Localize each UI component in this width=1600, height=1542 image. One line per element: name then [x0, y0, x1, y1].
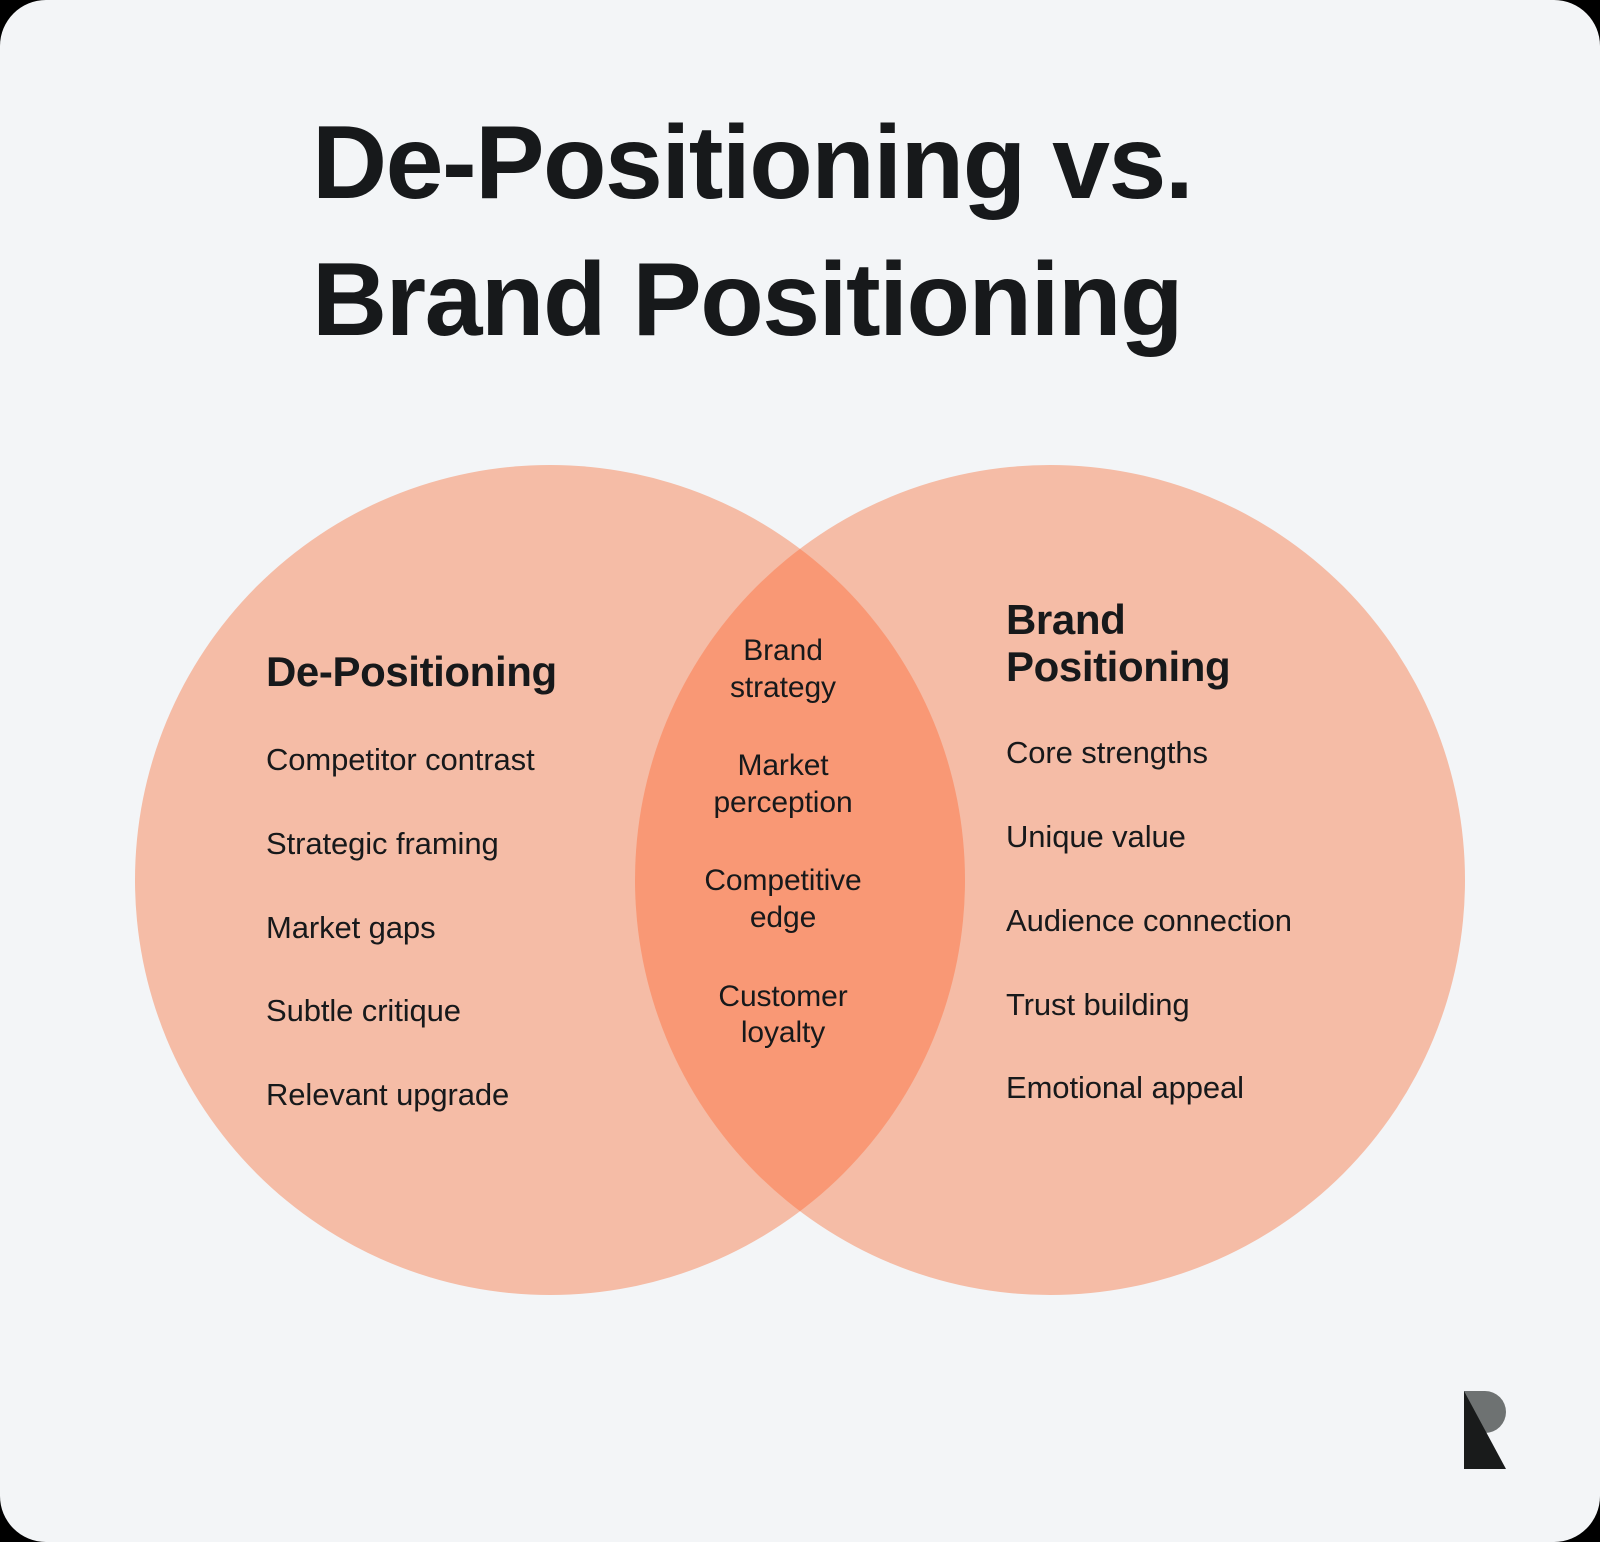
venn-left-heading: De-Positioning	[266, 648, 646, 695]
venn-left-item-2: Strategic framing	[266, 825, 646, 863]
venn-left-column: De-Positioning Competitor contrast Strat…	[266, 648, 646, 1114]
venn-overlap-item-4: Customer loyalty	[652, 979, 914, 1052]
venn-right-heading: Brand Positioning	[1006, 596, 1406, 690]
venn-left-item-1: Competitor contrast	[266, 741, 646, 779]
venn-right-item-5: Emotional appeal	[1006, 1069, 1406, 1107]
venn-diagram: De-Positioning Competitor contrast Strat…	[0, 0, 1600, 1542]
venn-right-item-3: Audience connection	[1006, 902, 1406, 940]
brand-logo-r-icon	[1454, 1391, 1516, 1469]
venn-left-item-5: Relevant upgrade	[266, 1076, 646, 1114]
venn-overlap-item-1: Brand strategy	[652, 633, 914, 706]
venn-right-item-4: Trust building	[1006, 986, 1406, 1024]
venn-overlap-item-3: Competitive edge	[652, 863, 914, 936]
venn-right-item-1: Core strengths	[1006, 734, 1406, 772]
infographic-card: De-Positioning vs. Brand Positioning De-…	[0, 0, 1600, 1542]
venn-left-item-3: Market gaps	[266, 909, 646, 947]
venn-overlap-item-2: Market perception	[652, 748, 914, 821]
venn-right-item-2: Unique value	[1006, 818, 1406, 856]
venn-right-column: Brand Positioning Core strengths Unique …	[1006, 596, 1406, 1107]
venn-left-item-4: Subtle critique	[266, 992, 646, 1030]
venn-overlap-column: Brand strategy Market perception Competi…	[652, 633, 914, 1052]
